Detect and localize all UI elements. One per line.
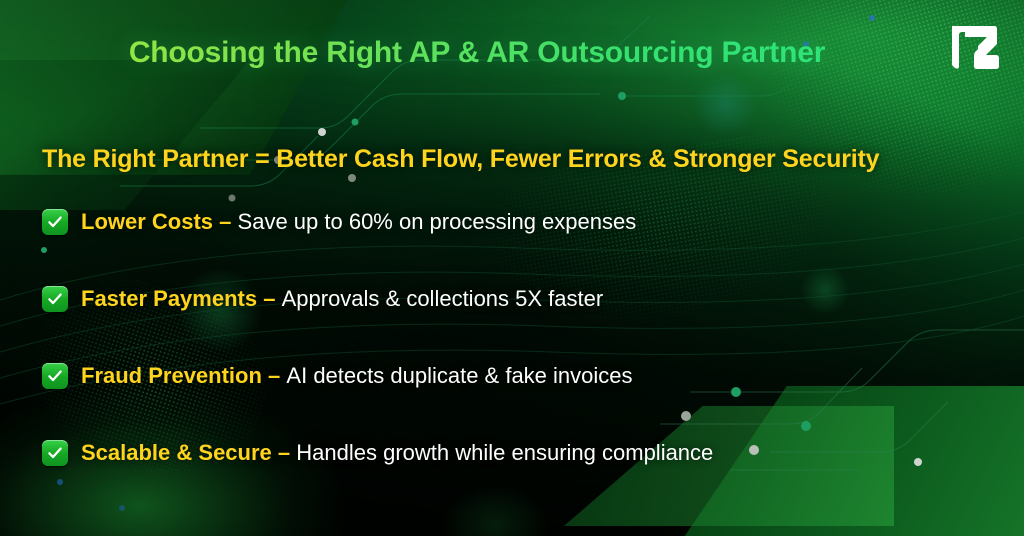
list-item-dash: –	[278, 440, 290, 465]
page-title: Choosing the Right AP & AR Outsourcing P…	[0, 36, 1024, 70]
green-check-badge-icon	[42, 440, 68, 466]
list-item: Faster Payments – Approvals & collection…	[42, 282, 982, 316]
green-check-badge-icon	[42, 209, 68, 235]
slide-content: Choosing the Right AP & AR Outsourcing P…	[0, 0, 1024, 536]
fz-monogram-logo	[946, 22, 1002, 78]
list-item-dash: –	[219, 209, 231, 234]
list-item-label: Scalable & Secure	[81, 440, 272, 465]
list-item: Scalable & Secure – Handles growth while…	[42, 436, 982, 470]
subtitle-headline: The Right Partner = Better Cash Flow, Fe…	[42, 145, 879, 174]
list-item-description: Save up to 60% on processing expenses	[238, 209, 637, 234]
list-item-text: Faster Payments – Approvals & collection…	[81, 288, 603, 310]
green-check-badge-icon	[42, 286, 68, 312]
list-item: Lower Costs – Save up to 60% on processi…	[42, 205, 982, 239]
green-check-badge-icon	[42, 363, 68, 389]
list-item-text: Lower Costs – Save up to 60% on processi…	[81, 211, 636, 233]
slide-canvas: Choosing the Right AP & AR Outsourcing P…	[0, 0, 1024, 536]
list-item-text: Scalable & Secure – Handles growth while…	[81, 442, 713, 464]
list-item-description: Handles growth while ensuring compliance	[296, 440, 713, 465]
list-item-label: Fraud Prevention	[81, 363, 262, 388]
logo-icon	[946, 22, 1002, 78]
list-item-description: AI detects duplicate & fake invoices	[286, 363, 632, 388]
list-item-dash: –	[268, 363, 280, 388]
list-item-label: Lower Costs	[81, 209, 213, 234]
list-item-description: Approvals & collections 5X faster	[282, 286, 604, 311]
benefits-list: Lower Costs – Save up to 60% on processi…	[42, 205, 982, 513]
list-item-label: Faster Payments	[81, 286, 257, 311]
list-item-text: Fraud Prevention – AI detects duplicate …	[81, 365, 633, 387]
list-item-dash: –	[263, 286, 275, 311]
list-item: Fraud Prevention – AI detects duplicate …	[42, 359, 982, 393]
